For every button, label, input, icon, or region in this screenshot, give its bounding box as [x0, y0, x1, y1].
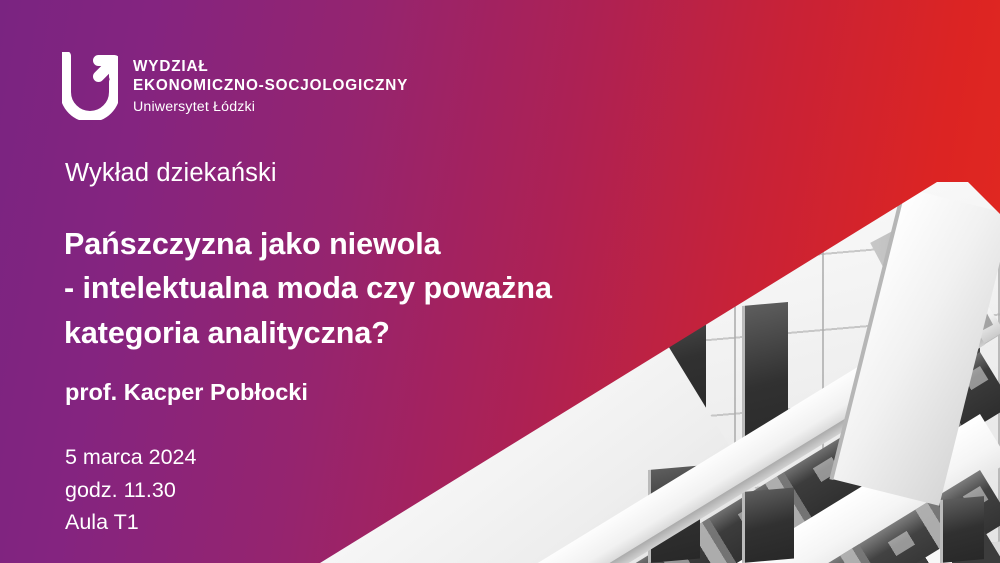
event-details: 5 marca 2024 godz. 11.30 Aula T1	[65, 441, 196, 539]
event-date: 5 marca 2024	[65, 441, 196, 474]
logo-faculty-name: EKONOMICZNO-SOCJOLOGICZNY	[133, 77, 408, 96]
university-logo-wordmark: WYDZIAŁ EKONOMICZNO-SOCJOLOGICZNY Uniwer…	[133, 52, 408, 116]
event-poster: WYDZIAŁ EKONOMICZNO-SOCJOLOGICZNY Uniwer…	[0, 0, 1000, 563]
speaker-name: prof. Kacper Pobłocki	[65, 379, 308, 406]
event-venue: Aula T1	[65, 506, 196, 539]
university-logo: WYDZIAŁ EKONOMICZNO-SOCJOLOGICZNY Uniwer…	[62, 52, 408, 120]
lecture-title-line: Pańszczyzna jako niewola	[64, 222, 684, 266]
event-kicker: Wykład dziekański	[65, 159, 277, 188]
u-arrow-logo-icon	[62, 52, 118, 120]
lecture-title-line: - intelektualna moda czy poważna	[64, 266, 684, 310]
lecture-title-line: kategoria analityczna?	[64, 311, 684, 355]
logo-faculty-label: WYDZIAŁ	[133, 58, 408, 77]
event-time: godz. 11.30	[65, 474, 196, 507]
lecture-title: Pańszczyzna jako niewola - intelektualna…	[64, 222, 684, 355]
logo-university-name: Uniwersytet Łódzki	[133, 99, 408, 116]
